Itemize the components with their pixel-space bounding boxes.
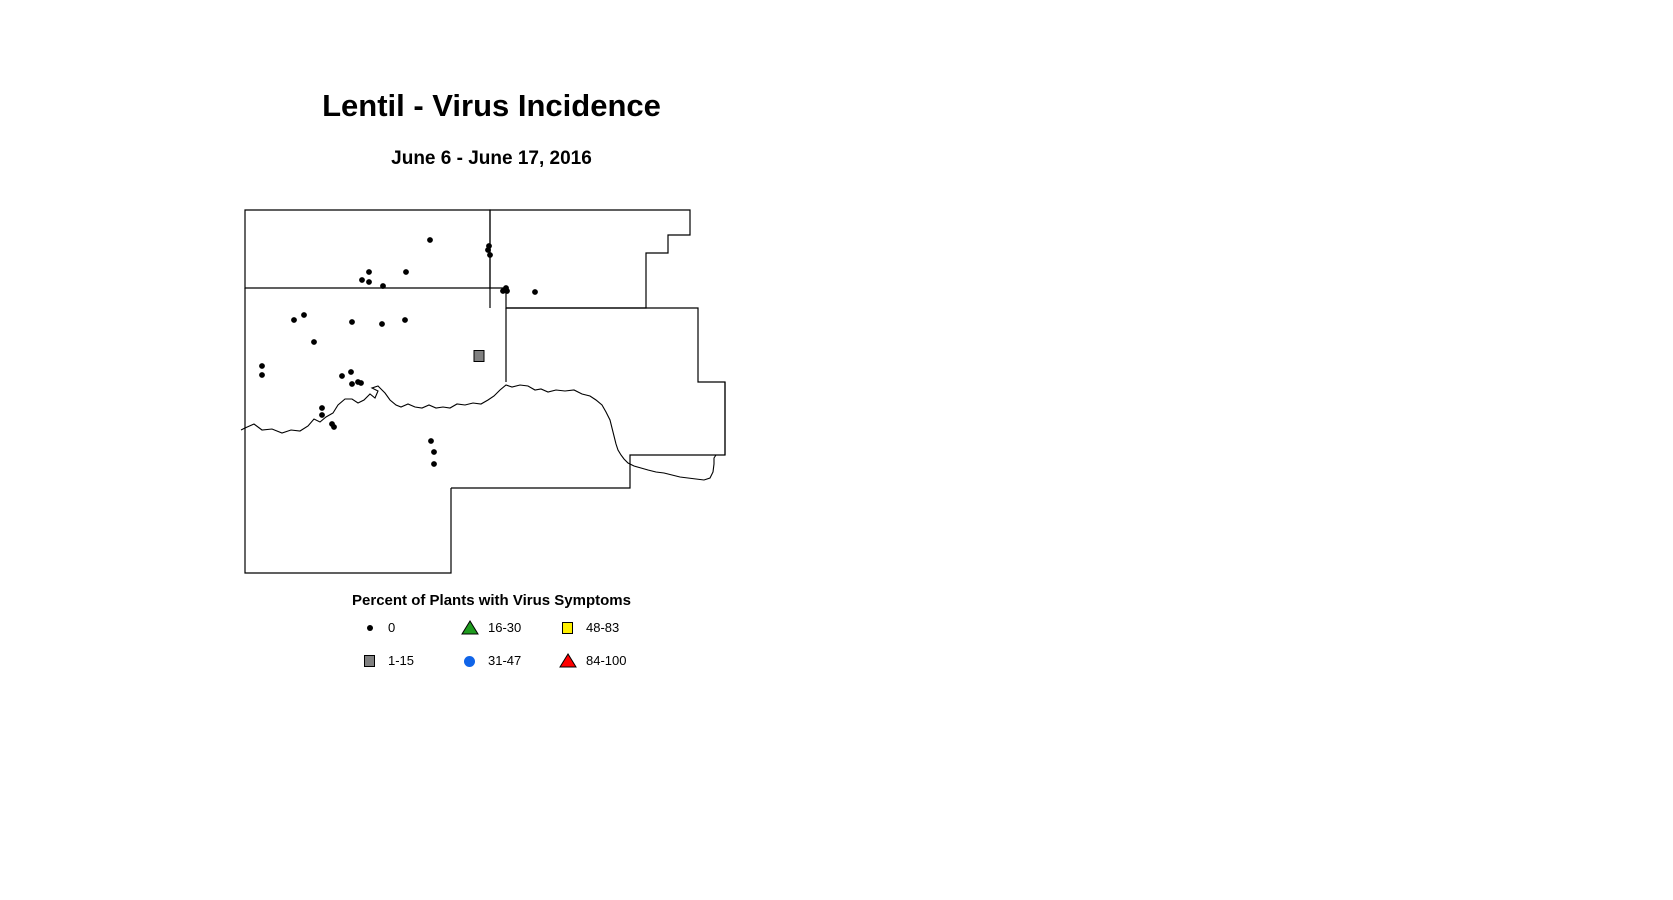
map-boundaries xyxy=(241,210,725,573)
map-data-point xyxy=(301,312,307,318)
legend-symbol-circle-icon xyxy=(460,651,480,671)
data-point-layer xyxy=(259,237,538,467)
map-data-point xyxy=(487,252,493,258)
map-panel xyxy=(238,200,738,590)
legend-triangle xyxy=(558,651,578,671)
map-data-point xyxy=(503,285,509,291)
map-data-point xyxy=(428,438,434,444)
legend-symbol-triangle-icon xyxy=(558,651,578,671)
map-data-point xyxy=(349,319,355,325)
map-data-point xyxy=(259,372,265,378)
map-data-point xyxy=(331,424,337,430)
map-data-point xyxy=(474,351,484,362)
county-outline-east xyxy=(451,308,725,488)
county-outline-northeast xyxy=(490,210,690,308)
legend-item-label: 1-15 xyxy=(388,653,414,669)
legend-item-label: 16-30 xyxy=(488,620,521,636)
map-data-point xyxy=(348,369,354,375)
legend-symbol-triangle-icon xyxy=(460,618,480,638)
map-data-point xyxy=(311,339,317,345)
map-data-point xyxy=(339,373,345,379)
legend-square xyxy=(562,622,573,634)
map-data-point xyxy=(402,317,408,323)
map-data-point xyxy=(403,269,409,275)
river-boundary-tail xyxy=(241,428,245,430)
county-map xyxy=(238,200,738,590)
map-data-point xyxy=(259,363,265,369)
legend-square xyxy=(364,655,375,667)
map-data-point xyxy=(358,380,364,386)
legend: 01-1516-3031-4748-8384-100 xyxy=(360,618,690,680)
legend-dot xyxy=(464,656,475,667)
legend-symbol-square-icon xyxy=(360,651,380,671)
map-data-point xyxy=(431,461,437,467)
map-data-point xyxy=(349,381,355,387)
map-data-point xyxy=(532,289,538,295)
map-data-point xyxy=(380,283,386,289)
map-data-point xyxy=(485,247,491,253)
map-data-point xyxy=(431,449,437,455)
map-data-point xyxy=(427,237,433,243)
page-title: Lentil - Virus Incidence xyxy=(0,88,983,124)
legend-title: Percent of Plants with Virus Symptoms xyxy=(0,592,983,609)
legend-item-label: 48-83 xyxy=(586,620,619,636)
legend-item-label: 0 xyxy=(388,620,395,636)
map-data-point xyxy=(319,412,325,418)
legend-item-label: 31-47 xyxy=(488,653,521,669)
legend-item-label: 84-100 xyxy=(586,653,626,669)
figure-canvas: Lentil - Virus Incidence June 6 - June 1… xyxy=(0,0,1673,900)
legend-symbol-circle-icon xyxy=(360,618,380,638)
map-data-point xyxy=(366,279,372,285)
map-data-point xyxy=(319,405,325,411)
map-data-point xyxy=(291,317,297,323)
county-outline-northwest xyxy=(245,210,490,288)
map-data-point xyxy=(359,277,365,283)
river-boundary xyxy=(245,385,716,480)
legend-symbol-square-icon xyxy=(558,618,578,638)
map-data-point xyxy=(379,321,385,327)
legend-triangle xyxy=(460,618,480,638)
page-subtitle: June 6 - June 17, 2016 xyxy=(0,148,983,170)
legend-dot xyxy=(367,625,373,631)
map-data-point xyxy=(366,269,372,275)
